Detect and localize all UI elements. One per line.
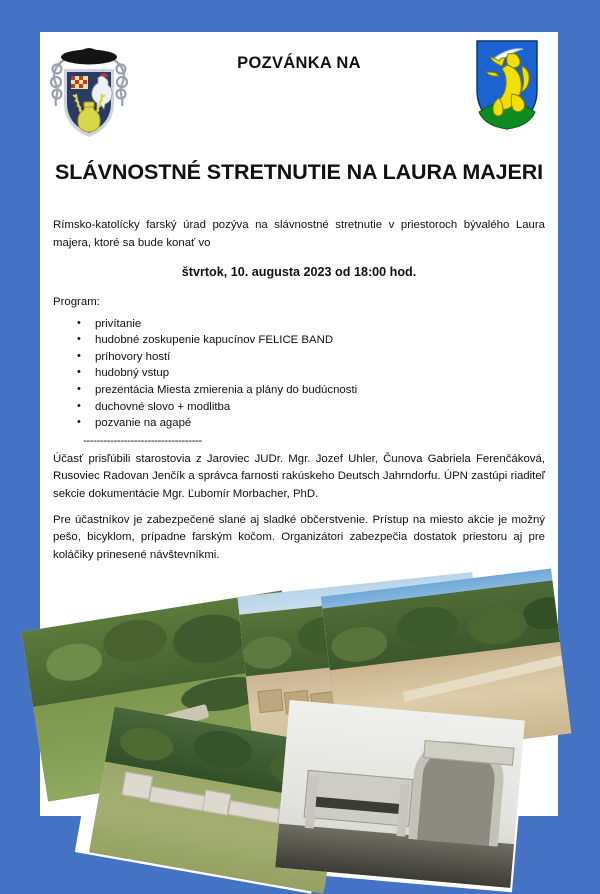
program-label: Program: xyxy=(53,294,545,312)
spacer xyxy=(53,504,545,512)
poster-header: POZVÁNKA NA xyxy=(40,32,558,140)
list-item: hudobný vstup xyxy=(95,365,545,382)
refreshments-paragraph: Pre účastníkov je zabezpečené slané aj s… xyxy=(53,512,545,565)
intro-paragraph: Rímsko-katolícky farský úrad pozýva na s… xyxy=(53,217,545,252)
page-title: SLÁVNOSTNÉ STRETNUTIE NA LAURA MAJERI xyxy=(40,160,558,185)
coat-of-arms-parish-icon xyxy=(44,36,134,140)
list-item: pozvanie na agapé xyxy=(95,415,545,432)
coat-of-arms-lion-icon xyxy=(466,32,548,136)
spacer xyxy=(53,252,545,263)
spacer xyxy=(53,283,545,294)
stone-slab xyxy=(202,790,231,816)
guests-paragraph: Účasť prisľúbili starostovia z Jaroviec … xyxy=(53,451,545,504)
event-datetime: štvrtok, 10. augusta 2023 od 18:00 hod. xyxy=(53,263,545,283)
section-divider: ----------------------------------- xyxy=(83,433,545,451)
list-item: privítanie xyxy=(95,316,545,333)
photo-collage xyxy=(0,576,600,852)
stone-slab xyxy=(121,771,153,799)
list-item: príhovory hostí xyxy=(95,349,545,366)
list-item: duchovné slovo + modlitba xyxy=(95,399,545,416)
list-item: prezentácia Miesta zmierenia a plány do … xyxy=(95,382,545,399)
poster-body: Rímsko-katolícky farský úrad pozýva na s… xyxy=(53,217,545,565)
stone-block xyxy=(257,689,283,713)
program-list: privítanie hudobné zoskupenie kapucínov … xyxy=(53,316,545,432)
list-item: hudobné zoskupenie kapucínov FELICE BAND xyxy=(95,332,545,349)
collage-photo-historic-arch xyxy=(275,700,525,888)
